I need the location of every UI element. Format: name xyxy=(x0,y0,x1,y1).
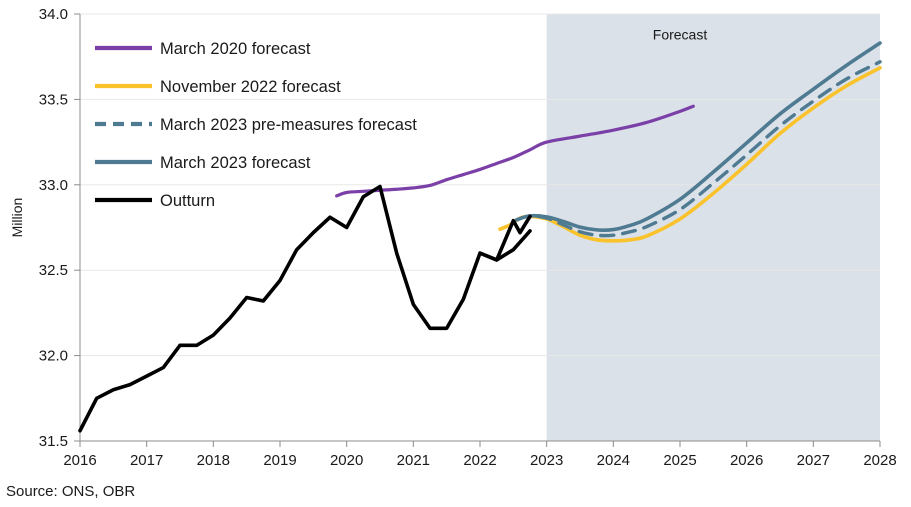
x-tick-label: 2020 xyxy=(330,452,363,469)
x-tick-label: 2026 xyxy=(730,452,763,469)
x-tick-label: 2028 xyxy=(863,452,896,469)
x-tick-label: 2022 xyxy=(463,452,496,469)
y-axis-title-text: Million xyxy=(9,198,25,238)
legend-label-march-2023-forecast[interactable]: March 2023 forecast xyxy=(160,154,311,172)
y-tick-label: 31.5 xyxy=(39,433,68,450)
y-tick-label: 33.0 xyxy=(39,177,68,194)
forecast-region-label: Forecast xyxy=(653,26,708,42)
x-tick-label: 2018 xyxy=(197,452,230,469)
y-axis-title: Million xyxy=(9,198,25,238)
legend-label-march-2020-forecast[interactable]: March 2020 forecast xyxy=(160,40,311,58)
x-tick-label: 2021 xyxy=(397,452,430,469)
x-tick-label: 2027 xyxy=(797,452,830,469)
y-tick-label: 33.5 xyxy=(39,91,68,108)
x-tick-label: 2017 xyxy=(130,452,163,469)
x-tick-label: 2025 xyxy=(663,452,696,469)
source-text: Source: ONS, OBR xyxy=(6,483,135,500)
y-tick-label: 32.0 xyxy=(39,348,68,365)
chart-annotations: Forecast xyxy=(653,26,708,42)
x-tick-label: 2019 xyxy=(263,452,296,469)
y-tick-label: 32.5 xyxy=(39,262,68,279)
y-axis-tick-labels: 31.532.032.533.033.534.0 xyxy=(39,6,68,450)
x-axis-tick-labels: 2016201720182019202020212022202320242025… xyxy=(63,452,896,469)
line-chart: 31.532.032.533.033.534.0 201620172018201… xyxy=(0,0,911,507)
series-line-outturn xyxy=(80,187,530,431)
legend-label-november-2022-forecast[interactable]: November 2022 forecast xyxy=(160,78,341,96)
x-tick-label: 2023 xyxy=(530,452,563,469)
legend-label-outturn[interactable]: Outturn xyxy=(160,192,215,210)
y-tick-label: 34.0 xyxy=(39,6,68,23)
x-tick-label: 2016 xyxy=(63,452,96,469)
chart-container: 31.532.032.533.033.534.0 201620172018201… xyxy=(0,0,911,507)
x-tick-label: 2024 xyxy=(597,452,630,469)
source-note: Source: ONS, OBR xyxy=(6,483,135,500)
legend-label-march-2023-pre-measures-forecast[interactable]: March 2023 pre-measures forecast xyxy=(160,116,417,134)
